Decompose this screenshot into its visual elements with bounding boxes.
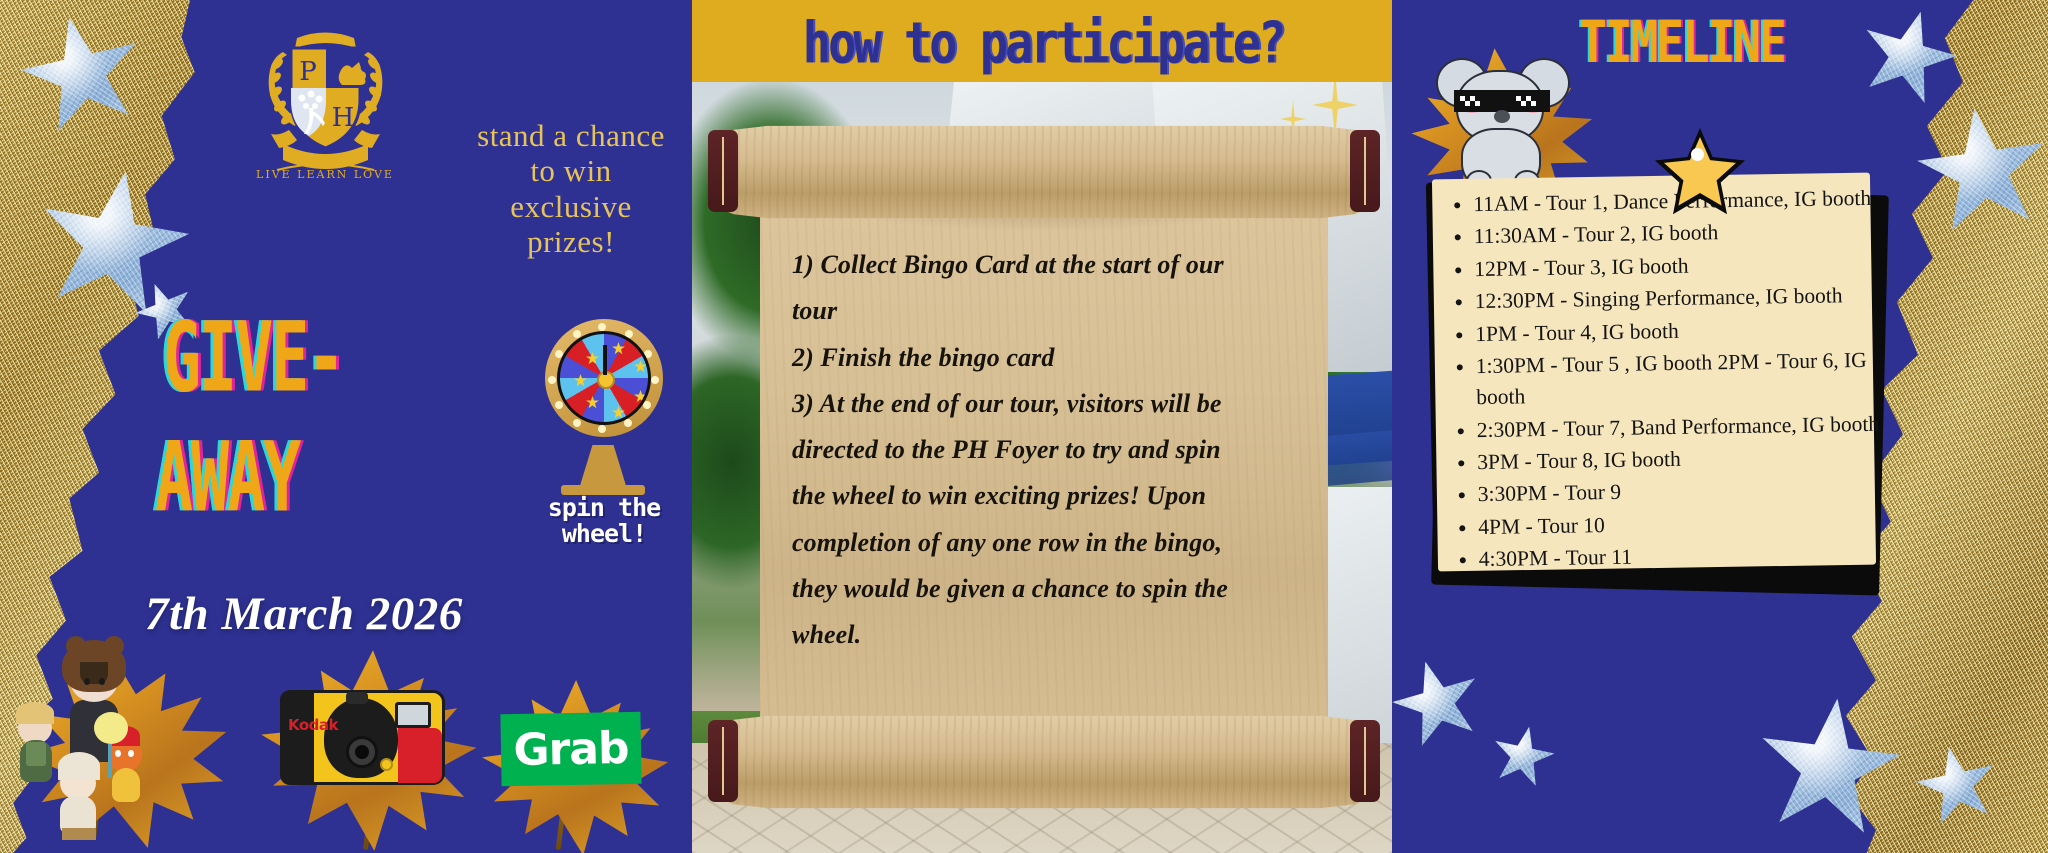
deal-with-it-sunglasses-icon (1454, 90, 1550, 112)
decorative-star (1849, 0, 1967, 113)
how-to-participate-title: how to participate? (698, 10, 1388, 77)
list-item: 11:30AM - Tour 2, IG booth (1473, 215, 1889, 253)
scroll-roll-top (714, 124, 1374, 220)
participation-step: 1) Collect Bingo Card at the start of ou… (792, 242, 1252, 335)
list-item: 4:30PM - Tour 11 (1479, 538, 1895, 576)
svg-text:H: H (332, 103, 355, 133)
camera-flash (395, 702, 431, 728)
wheel-pointer (603, 345, 607, 375)
list-item: 1:30PM - Tour 5 , IG booth 2PM - Tour 6,… (1476, 344, 1893, 413)
participation-steps: 1) Collect Bingo Card at the start of ou… (792, 242, 1252, 658)
giveaway-poster: P H LIVE LEARN LOVE stand a chance to wi… (0, 0, 2048, 853)
svg-text:P: P (299, 57, 317, 87)
giveaway-headline: GIVE- AWAY (163, 310, 593, 492)
grab-wordmark: Grab (513, 723, 629, 776)
ph-school-crest: P H LIVE LEARN LOVE (253, 20, 398, 190)
tagline-text: stand a chance to win exclusive prizes! (466, 118, 676, 259)
scroll-cap (1350, 130, 1380, 212)
spin-the-wheel-label: spin the wheel! (525, 495, 683, 548)
list-item: 12:30PM - Singing Performance, IG booth (1475, 280, 1891, 318)
list-item: 4PM - Tour 10 (1478, 505, 1894, 543)
camera-lens-eye (355, 745, 369, 759)
participation-step: 3) At the end of our tour, visitors will… (792, 381, 1252, 659)
list-item: 2:30PM - Tour 7, Band Performance, IG bo… (1477, 408, 1893, 446)
camera-grip (280, 690, 314, 785)
camera-red-panel (398, 728, 442, 783)
camera-shutter-button (346, 692, 368, 704)
participation-step: 2) Finish the bingo card (792, 335, 1252, 381)
list-item: 3PM - Tour 8, IG booth (1477, 441, 1893, 479)
list-item: 3:30PM - Tour 9 (1478, 473, 1894, 511)
kodak-wordmark: Kodak (288, 716, 340, 734)
grab-voucher-prize-sticker: Grab (500, 712, 641, 786)
decorative-star (1392, 650, 1491, 756)
scroll-cap (708, 130, 738, 212)
wheel-outer-ring (545, 319, 663, 437)
scroll-cap (1350, 720, 1380, 802)
event-date: 7th March 2026 (145, 587, 525, 641)
decorative-star (1486, 720, 1559, 792)
list-item: 1PM - Tour 4, IG booth (1475, 312, 1891, 350)
camera-dial (380, 758, 393, 771)
scroll-cap (708, 720, 738, 802)
middle-panel: how to participate? 1) Collect Bingo (692, 0, 1392, 853)
scroll-roll-bottom (714, 714, 1374, 810)
koala-mascot-icon (1430, 48, 1580, 198)
kodak-camera-prize-sticker: Kodak (280, 690, 445, 785)
left-panel: P H LIVE LEARN LOVE stand a chance to wi… (0, 0, 692, 853)
koala-nose (1494, 110, 1510, 123)
timeline-schedule-list: 11AM - Tour 1, Dance Performance, IG boo… (1449, 183, 1895, 577)
list-item: 12PM - Tour 3, IG booth (1474, 247, 1890, 285)
parchment-scroll: 1) Collect Bingo Card at the start of ou… (714, 124, 1374, 810)
star-badge-icon (1655, 128, 1745, 216)
prize-wheel-graphic: spin the wheel! (531, 317, 676, 532)
wheel-stand (579, 445, 627, 489)
